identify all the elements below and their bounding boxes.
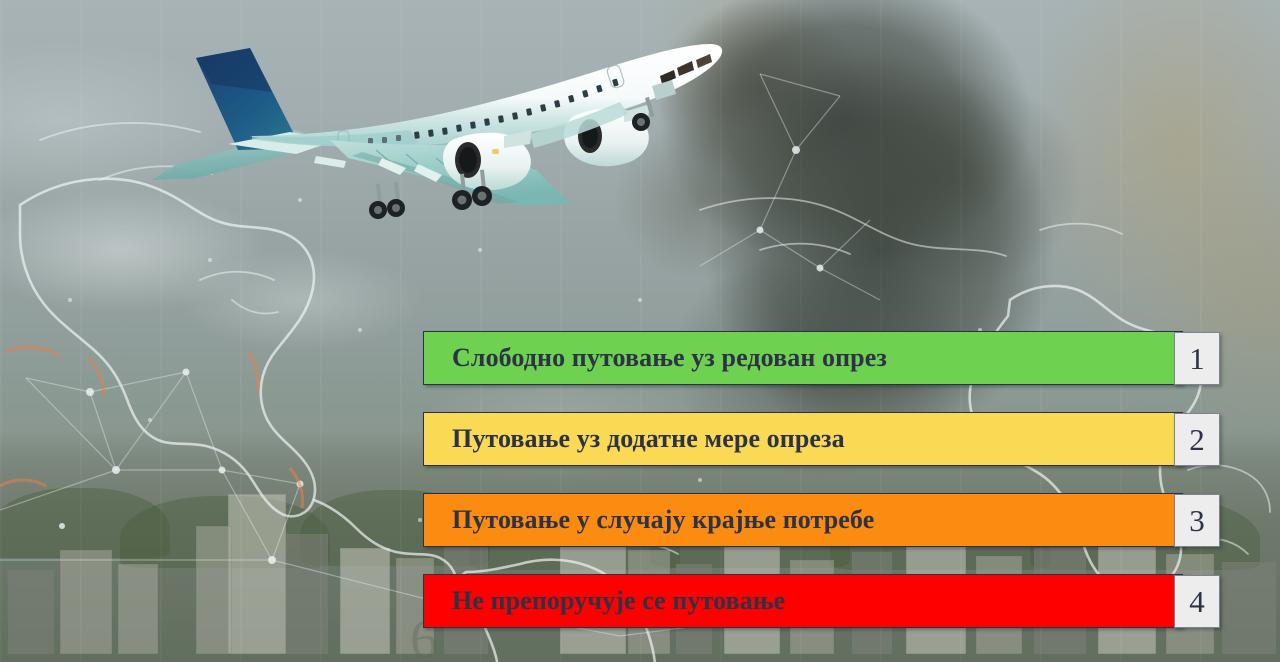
- level-3-bar[interactable]: Путовање у случају крајње потребе: [423, 493, 1183, 547]
- legend-row-level-3: Путовање у случају крајње потребе 3: [423, 493, 1219, 547]
- level-4-label: Не препоручује се путовање: [424, 586, 785, 616]
- level-2-number-badge: 2: [1174, 413, 1220, 466]
- level-4-bar[interactable]: Не препоручује се путовање: [423, 574, 1183, 628]
- level-3-number-badge: 3: [1174, 494, 1220, 547]
- legend-row-level-4: Не препоручује се путовање 4: [423, 574, 1219, 628]
- level-2-label: Путовање уз додатне мере опреза: [424, 424, 845, 454]
- airplane-icon: [100, 18, 750, 238]
- level-1-bar[interactable]: Слободно путовање уз редован опрез: [423, 331, 1183, 385]
- legend-row-level-2: Путовање уз додатне мере опреза 2: [423, 412, 1219, 466]
- level-4-number-badge: 4: [1174, 575, 1220, 628]
- level-1-number-badge: 1: [1174, 332, 1220, 385]
- travel-advisory-legend: Слободно путовање уз редован опрез 1 Пут…: [423, 331, 1219, 628]
- screenshot-stage: 6: [0, 0, 1280, 662]
- legend-row-level-1: Слободно путовање уз редован опрез 1: [423, 331, 1219, 385]
- level-1-label: Слободно путовање уз редован опрез: [424, 343, 887, 373]
- level-2-bar[interactable]: Путовање уз додатне мере опреза: [423, 412, 1183, 466]
- level-3-label: Путовање у случају крајње потребе: [424, 505, 874, 535]
